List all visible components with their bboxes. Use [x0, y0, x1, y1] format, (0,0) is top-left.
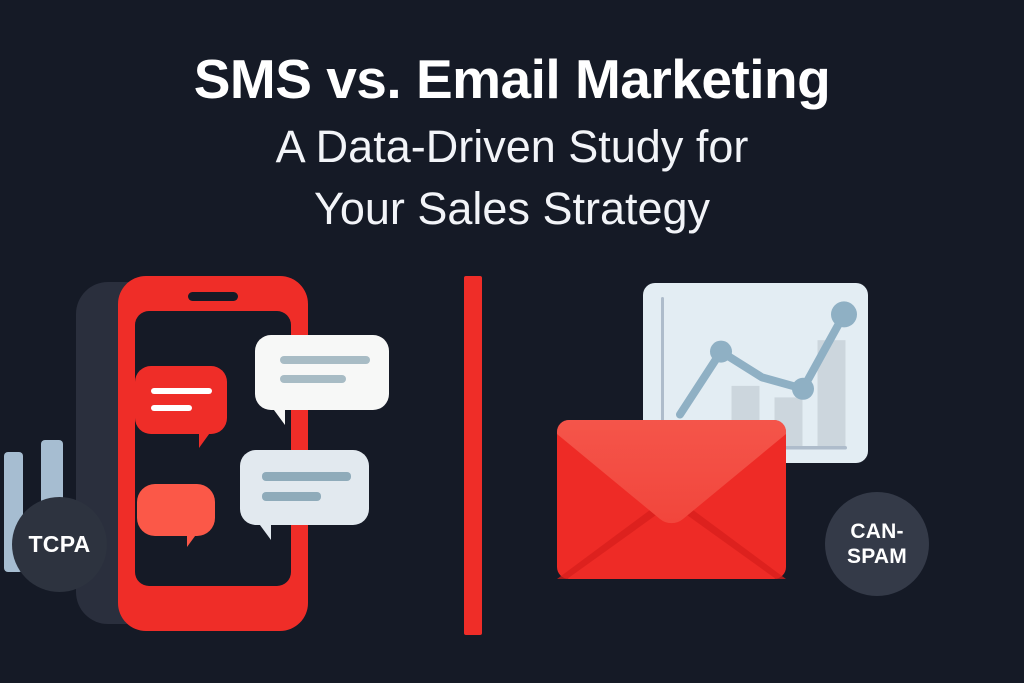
envelope-graphic: [557, 420, 786, 579]
bubble-text-line: [262, 492, 321, 501]
tcpa-badge: TCPA: [12, 497, 107, 592]
email-envelope-icon: [557, 420, 786, 579]
chat-bubble-outgoing-salmon: [137, 484, 215, 536]
bubble-body: [240, 450, 369, 525]
can-spam-badge: CAN- SPAM: [825, 492, 929, 596]
bubble-body: [137, 484, 215, 536]
heading-block: SMS vs. Email Marketing A Data-Driven St…: [0, 48, 1024, 240]
bubble-text-line: [151, 405, 192, 411]
phone-speaker-icon: [188, 292, 238, 301]
chat-bubble-incoming-blue: [240, 450, 369, 525]
infographic-canvas: SMS vs. Email Marketing A Data-Driven St…: [0, 0, 1024, 683]
chart-data-point: [792, 378, 814, 400]
bubble-body: [135, 366, 227, 434]
bubble-text-line: [262, 472, 351, 481]
subtitle-line-1: A Data-Driven Study for: [0, 116, 1024, 178]
can-spam-badge-label-line-1: CAN-: [850, 519, 903, 544]
chat-bubble-incoming-white: [255, 335, 389, 410]
bubble-text-line: [280, 375, 346, 383]
bubble-tail: [187, 532, 198, 547]
chart-data-point: [831, 301, 857, 327]
bubble-tail: [199, 430, 212, 448]
bubble-tail: [257, 521, 271, 540]
chat-bubble-outgoing-red: [135, 366, 227, 434]
page-title: SMS vs. Email Marketing: [0, 48, 1024, 110]
bubble-body: [255, 335, 389, 410]
tcpa-badge-label: TCPA: [28, 531, 90, 558]
vertical-divider: [464, 276, 482, 635]
bubble-text-line: [280, 356, 370, 364]
bubble-tail: [271, 406, 285, 425]
chart-data-point: [710, 341, 732, 363]
subtitle-line-2: Your Sales Strategy: [0, 178, 1024, 240]
can-spam-badge-label-line-2: SPAM: [847, 544, 907, 569]
bubble-text-line: [151, 388, 212, 394]
